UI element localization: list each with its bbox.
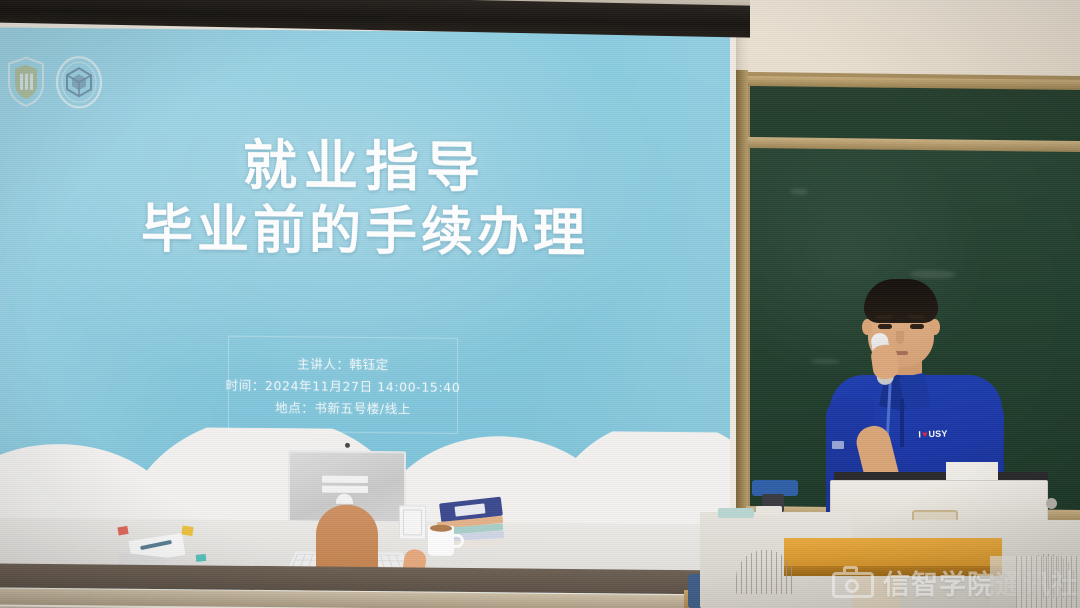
- speaker-eye-left: [878, 324, 892, 329]
- red-sticky-note: [117, 526, 128, 536]
- shirt-logo-heart-icon: ♥: [922, 429, 928, 439]
- chalkboard-left-edge: [736, 70, 748, 530]
- slide-illustration: [0, 425, 730, 594]
- camera-icon-lens: [845, 579, 859, 593]
- coffee-surface: [430, 525, 452, 532]
- lectern-knob: [1046, 498, 1057, 509]
- chalkboard-upper-panel: [750, 86, 1080, 142]
- speaker-eye-right: [910, 324, 924, 329]
- projected-slide: 就业指导 毕业前的手续办理 主讲人：韩钰定 时间：2024年11月27日 14:…: [0, 27, 730, 594]
- info-speaker-line: 主讲人：韩钰定: [297, 353, 389, 373]
- camera-icon: [832, 566, 874, 598]
- info-time-line: 时间：2024年11月27日 14:00-15:40: [226, 374, 461, 395]
- monitor-camera-dot: [345, 443, 350, 448]
- speaker-shirt-placket: [900, 399, 904, 447]
- picture-frame-inner: [403, 509, 422, 535]
- speaker-ear-left: [862, 319, 872, 335]
- sleeve-logo: [832, 441, 844, 449]
- shirt-logo-i: I: [918, 429, 921, 439]
- chalk-smudge: [790, 188, 808, 194]
- shirt-logo-usy: USY: [928, 428, 947, 439]
- speaker-nose: [896, 331, 904, 344]
- white-desk-item: [756, 506, 782, 515]
- info-location-line: 地点：书新五号楼/线上: [275, 397, 411, 417]
- photo-scene: 就业指导 毕业前的手续办理 主讲人：韩钰定 时间：2024年11月27日 14:…: [0, 0, 1080, 608]
- slide-logos: [6, 50, 126, 115]
- yellow-sticky-note: [181, 526, 193, 537]
- slide-info-box: 主讲人：韩钰定 时间：2024年11月27日 14:00-15:40 地点：书新…: [228, 336, 458, 434]
- teal-sticky-note: [196, 554, 207, 562]
- university-shield-logo: [6, 56, 46, 108]
- lectern-grille-occlusion: [1016, 556, 1080, 608]
- college-emblem-logo: [54, 54, 104, 110]
- speaker-ear-right: [930, 319, 940, 335]
- monitor-content-bar: [322, 486, 368, 493]
- monitor-content-bar: [322, 476, 368, 483]
- shirt-chest-logo: I ♥ USY: [912, 426, 954, 440]
- teal-desk-item: [718, 508, 754, 518]
